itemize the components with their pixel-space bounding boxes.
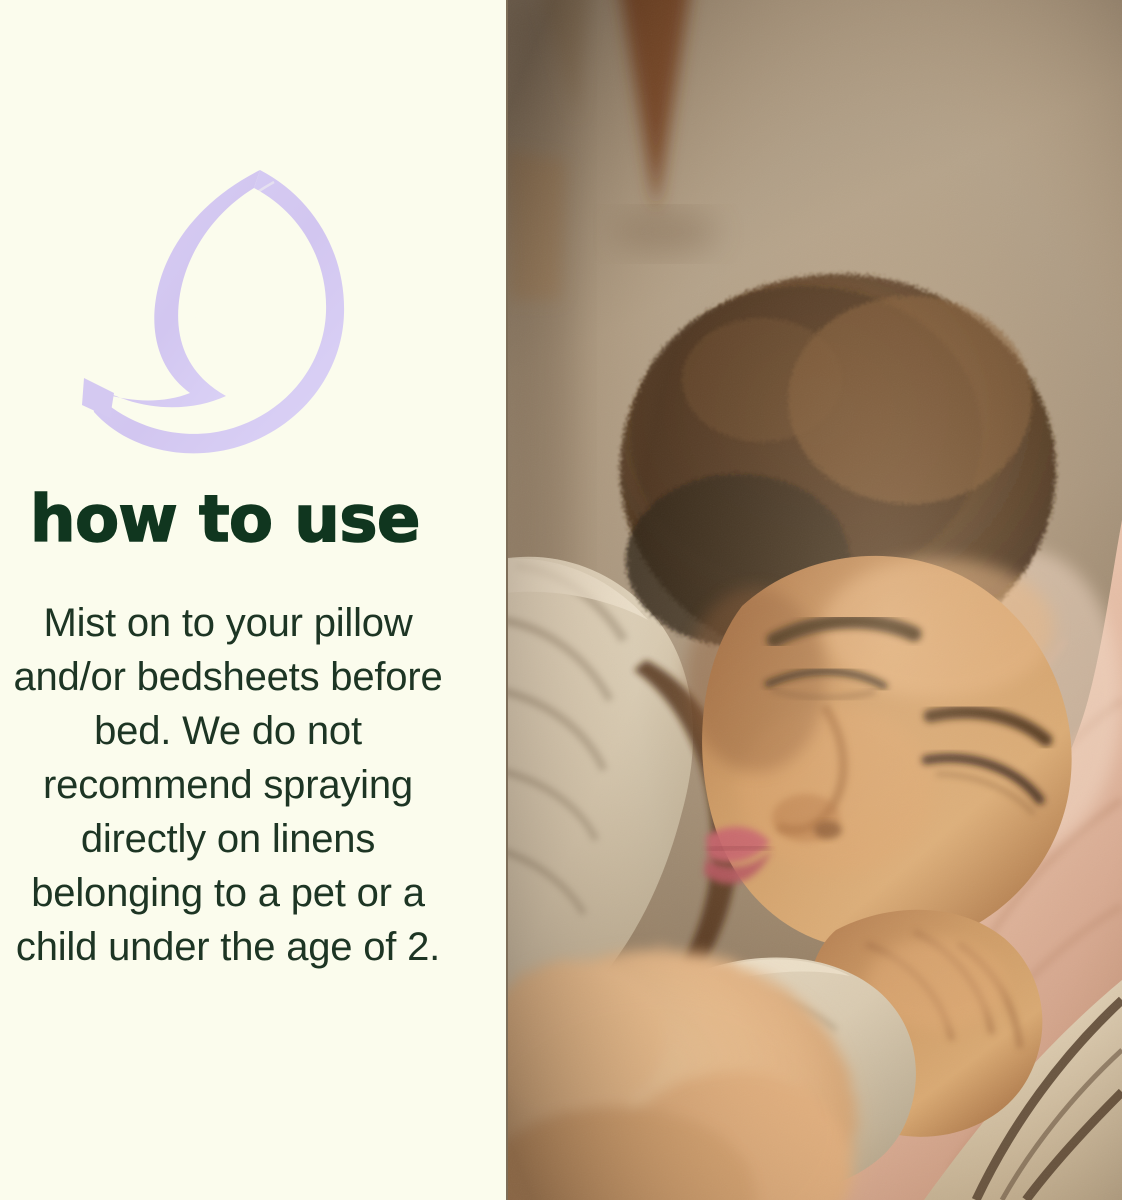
how-to-use-panel: how to use Mist on to your pillow and/or…: [0, 0, 1122, 1200]
page-title: how to use: [30, 488, 476, 552]
instructions-panel: how to use Mist on to your pillow and/or…: [0, 0, 506, 1200]
photo-grain: [506, 0, 1122, 1200]
moon-brush-gap-1: [197, 312, 222, 376]
moon-tail: [82, 378, 114, 418]
panel-photo-divider: [506, 0, 508, 1200]
crescent-moon-icon: [78, 162, 350, 462]
moon-inner-stroke: [90, 170, 260, 407]
sleeping-child-photo: [506, 0, 1122, 1200]
usage-instructions-text: Mist on to your pillow and/or bedsheets …: [0, 596, 456, 974]
